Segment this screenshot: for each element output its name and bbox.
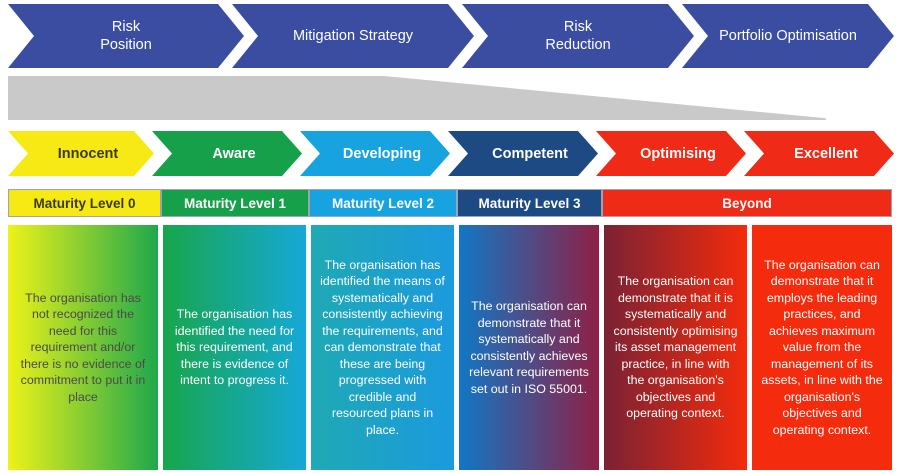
maturity-stage-innocent[interactable]: Innocent (8, 131, 154, 176)
journey-step-risk-position[interactable]: Risk Position (8, 4, 244, 68)
maturity-level-cell-3[interactable]: Maturity Level 3 (457, 189, 602, 217)
description-text: The organisation can demonstrate that it… (761, 257, 883, 439)
journey-step-mitigation-strategy[interactable]: Mitigation Strategy (232, 4, 474, 68)
tapering-grey-wedge (8, 76, 826, 120)
description-box-competent: The organisation can demonstrate that it… (459, 225, 599, 470)
description-box-innocent: The organisation has not recognized the … (8, 225, 158, 470)
wedge-shape (8, 76, 826, 120)
description-box-developing: The organisation has identified the mean… (311, 225, 454, 470)
journey-step-label: Risk Reduction (531, 18, 624, 54)
maturity-stage-band: Innocent Aware Developing Competent Opti… (0, 131, 900, 176)
maturity-stage-developing[interactable]: Developing (300, 131, 450, 176)
journey-step-portfolio-optimisation[interactable]: Portfolio Optimisation (682, 4, 894, 68)
maturity-level-row: Maturity Level 0 Maturity Level 1 Maturi… (8, 189, 892, 217)
description-box-aware: The organisation has identified the need… (163, 225, 306, 470)
description-text: The organisation has identified the need… (172, 306, 297, 389)
maturity-stage-label: Aware (198, 146, 255, 162)
description-text: The organisation has not recognized the … (17, 290, 149, 406)
maturity-stage-label: Developing (329, 146, 421, 162)
maturity-model-diagram: Risk Position Mitigation Strategy Risk R… (0, 0, 900, 474)
journey-band: Risk Position Mitigation Strategy Risk R… (0, 4, 900, 68)
description-box-excellent: The organisation can demonstrate that it… (752, 225, 892, 470)
maturity-stage-excellent[interactable]: Excellent (744, 131, 894, 176)
maturity-level-cell-2[interactable]: Maturity Level 2 (309, 189, 457, 217)
journey-step-risk-reduction[interactable]: Risk Reduction (462, 4, 694, 68)
description-text: The organisation can demonstrate that it… (613, 273, 738, 422)
maturity-level-cell-0[interactable]: Maturity Level 0 (8, 189, 161, 217)
journey-step-label: Portfolio Optimisation (705, 27, 871, 45)
maturity-level-label: Maturity Level 2 (332, 196, 434, 211)
journey-step-label: Mitigation Strategy (279, 27, 427, 45)
maturity-stage-label: Competent (478, 146, 568, 162)
maturity-level-cell-beyond[interactable]: Beyond (602, 189, 892, 217)
journey-step-label: Risk Position (86, 18, 166, 54)
maturity-stage-optimising[interactable]: Optimising (596, 131, 746, 176)
maturity-stage-competent[interactable]: Competent (448, 131, 598, 176)
description-text: The organisation can demonstrate that it… (468, 298, 590, 397)
maturity-stage-aware[interactable]: Aware (152, 131, 302, 176)
maturity-stage-label: Optimising (626, 146, 716, 162)
description-row: The organisation has not recognized the … (8, 225, 892, 470)
maturity-level-cell-1[interactable]: Maturity Level 1 (161, 189, 309, 217)
maturity-level-label: Beyond (722, 196, 772, 211)
description-box-optimising: The organisation can demonstrate that it… (604, 225, 747, 470)
maturity-level-label: Maturity Level 0 (33, 196, 135, 211)
description-text: The organisation has identified the mean… (320, 257, 445, 439)
maturity-level-label: Maturity Level 1 (184, 196, 286, 211)
maturity-stage-label: Innocent (44, 146, 118, 162)
maturity-stage-label: Excellent (780, 146, 858, 162)
maturity-level-label: Maturity Level 3 (478, 196, 580, 211)
